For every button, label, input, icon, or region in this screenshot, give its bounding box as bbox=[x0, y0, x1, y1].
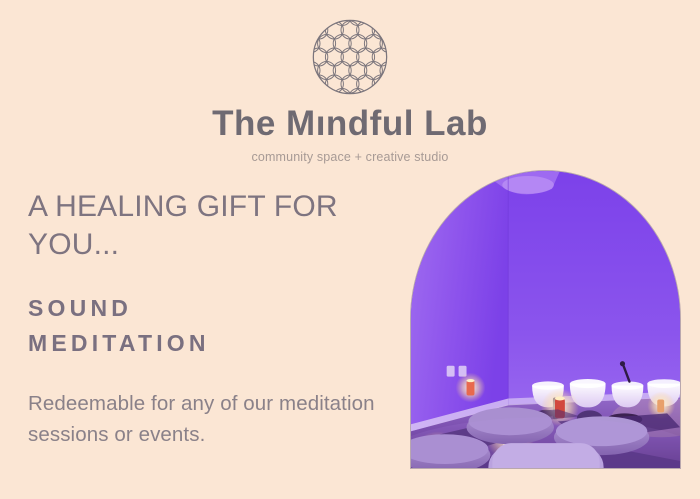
brand-tagline: community space + creative studio bbox=[0, 150, 700, 165]
brand-name: The Mındful Lab bbox=[0, 106, 700, 143]
flower-of-life-icon bbox=[311, 18, 389, 96]
body-copy: Redeemable for any of our meditation ses… bbox=[28, 388, 378, 450]
logo-block: The Mındful Lab community space + creati… bbox=[0, 18, 700, 165]
gift-certificate-poster: The Mındful Lab community space + creati… bbox=[0, 0, 700, 499]
offer-title: SOUND MEDITATION bbox=[28, 291, 378, 362]
headline: A HEALING GIFT FOR YOU... bbox=[28, 188, 378, 265]
meditation-room-photo bbox=[410, 170, 681, 469]
offer-line-1: SOUND bbox=[28, 291, 378, 327]
offer-line-2: MEDITATION bbox=[28, 326, 378, 362]
copy-column: A HEALING GIFT FOR YOU... SOUND MEDITATI… bbox=[28, 188, 378, 450]
meditation-room-illustration bbox=[411, 171, 680, 468]
